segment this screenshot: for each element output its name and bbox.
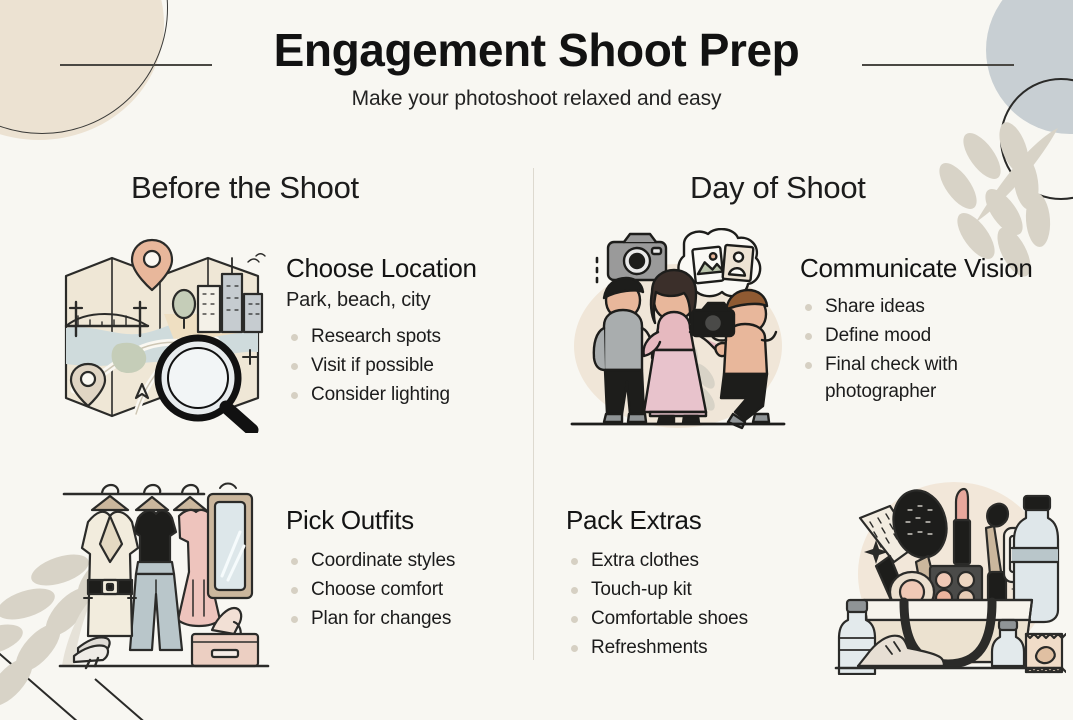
card-title: Choose Location bbox=[286, 254, 522, 284]
list-item: Share ideas bbox=[800, 294, 1066, 321]
card-subtitle: Park, beach, city bbox=[286, 289, 522, 312]
map-magnifier-illustration bbox=[52, 228, 276, 433]
card-bullet-list: Share ideas Define mood Final check with… bbox=[800, 294, 1066, 406]
list-item: Comfortable shoes bbox=[566, 606, 816, 633]
column-divider bbox=[533, 168, 534, 660]
list-item: Coordinate styles bbox=[286, 548, 522, 575]
card-communicate-vision: Communicate Vision Share ideas Define mo… bbox=[566, 228, 1066, 433]
clothing-rack-illustration bbox=[52, 470, 276, 675]
card-text-pick-outfits: Pick Outfits Coordinate styles Choose co… bbox=[276, 470, 522, 635]
tote-bag-essentials-illustration bbox=[830, 470, 1066, 675]
column-heading-before-the-shoot: Before the Shoot bbox=[131, 170, 359, 206]
list-item: Extra clothes bbox=[566, 548, 816, 575]
list-item: Consider lighting bbox=[286, 382, 522, 409]
list-item: Research spots bbox=[286, 324, 522, 351]
card-bullet-list: Extra clothes Touch-up kit Comfortable s… bbox=[566, 548, 816, 662]
card-title: Communicate Vision bbox=[800, 254, 1066, 284]
header: Engagement Shoot Prep Make your photosho… bbox=[0, 26, 1073, 111]
column-heading-day-of-shoot: Day of Shoot bbox=[690, 170, 866, 206]
card-title: Pack Extras bbox=[566, 506, 816, 536]
list-item: Choose comfort bbox=[286, 577, 522, 604]
card-title: Pick Outfits bbox=[286, 506, 522, 536]
infographic-page: Engagement Shoot Prep Make your photosho… bbox=[0, 0, 1073, 720]
card-bullet-list: Research spots Visit if possible Conside… bbox=[286, 324, 522, 409]
list-item: Visit if possible bbox=[286, 353, 522, 380]
page-title: Engagement Shoot Prep bbox=[0, 26, 1073, 74]
list-item: Refreshments bbox=[566, 635, 816, 662]
card-text-communicate-vision: Communicate Vision Share ideas Define mo… bbox=[790, 228, 1066, 408]
page-subtitle: Make your photoshoot relaxed and easy bbox=[0, 87, 1073, 111]
card-pick-outfits: Pick Outfits Coordinate styles Choose co… bbox=[52, 470, 522, 675]
card-text-choose-location: Choose Location Park, beach, city Resear… bbox=[276, 228, 522, 411]
list-item: Final check with photographer bbox=[800, 352, 1066, 406]
diagonal-line-decoration-2 bbox=[94, 678, 184, 720]
list-item: Touch-up kit bbox=[566, 577, 816, 604]
card-choose-location: Choose Location Park, beach, city Resear… bbox=[52, 228, 522, 433]
couple-photographer-illustration bbox=[566, 228, 790, 433]
card-text-pack-extras: Pack Extras Extra clothes Touch-up kit C… bbox=[566, 470, 830, 664]
card-bullet-list: Coordinate styles Choose comfort Plan fo… bbox=[286, 548, 522, 633]
list-item: Plan for changes bbox=[286, 606, 522, 633]
card-pack-extras: Pack Extras Extra clothes Touch-up kit C… bbox=[566, 470, 1066, 675]
list-item: Define mood bbox=[800, 323, 1066, 350]
